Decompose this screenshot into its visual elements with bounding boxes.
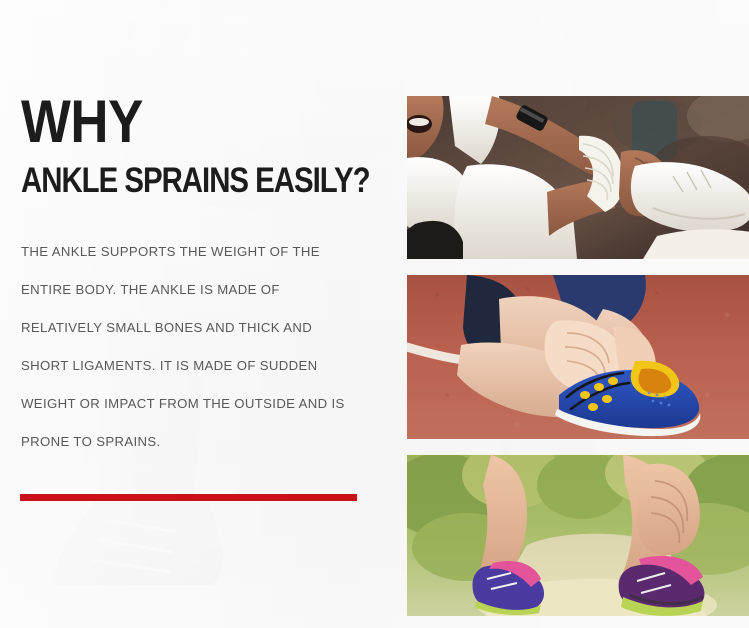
red-divider-rule (20, 494, 357, 501)
body-paragraph: THE ANKLE SUPPORTS THE WEIGHT OF THE ENT… (21, 233, 351, 461)
photo-tennis-player-ankle-injury (407, 96, 749, 259)
page-title-line1: WHY (21, 92, 143, 152)
photo-runner-red-track-ankle-injury (407, 275, 749, 439)
body-paragraph-text: THE ANKLE SUPPORTS THE WEIGHT OF THE ENT… (21, 233, 351, 461)
infographic-page: WHY ANKLE SPRAINS EASILY? THE ANKLE SUPP… (0, 0, 749, 628)
photo-stack (367, 80, 734, 628)
page-title-line2: ANKLE SPRAINS EASILY? (21, 163, 370, 198)
text-column: WHY ANKLE SPRAINS EASILY? THE ANKLE SUPP… (0, 0, 367, 628)
photo-runner-path-ankle-injury (407, 455, 749, 616)
